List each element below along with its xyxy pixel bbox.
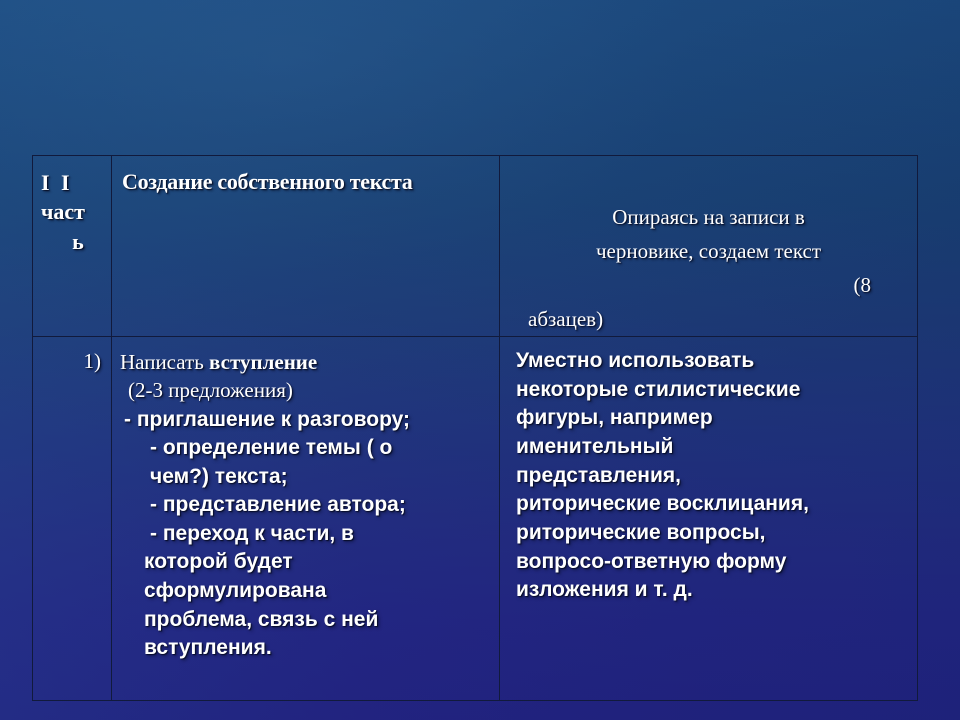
task-serif-line1-plain: Написать <box>120 350 209 374</box>
header-note-line1: Опираясь на записи в <box>514 200 903 234</box>
header-note: Опираясь на записи в черновике, создаем … <box>500 156 917 336</box>
comment-line-1: Уместно использовать <box>516 347 907 376</box>
content-table: I I част ь Создание собственного текста … <box>32 155 918 701</box>
task-sans-line-5: - переход к части, в <box>120 520 493 549</box>
part-label-line3: ь <box>39 227 103 256</box>
comment-line-7: риторические вопросы, <box>516 519 907 548</box>
cell-step-comment: Уместно использовать некоторые стилистич… <box>500 337 918 701</box>
comment-line-9: изложения и т. д. <box>516 576 907 605</box>
task-sans-line-8: проблема, связь с ней <box>120 606 493 635</box>
step-comment: Уместно использовать некоторые стилистич… <box>500 337 917 605</box>
task-sans-line-9: вступления. <box>120 634 493 663</box>
table-row-header: I I част ь Создание собственного текста … <box>33 156 918 337</box>
comment-line-2: некоторые стилистические <box>516 376 907 405</box>
task-serif-line1-bold: вступление <box>209 350 317 374</box>
task-sans-line-6: которой будет <box>120 548 493 577</box>
header-note-line4: абзацев) <box>514 302 903 336</box>
cell-step-task: Написать вступление (2-3 предложения) - … <box>112 337 500 701</box>
comment-line-8: вопросо-ответную форму <box>516 548 907 577</box>
cell-section-title: Создание собственного текста <box>112 156 500 337</box>
step-task: Написать вступление (2-3 предложения) - … <box>112 337 499 663</box>
comment-line-4: именительный <box>516 433 907 462</box>
cell-part-label: I I част ь <box>33 156 112 337</box>
comment-line-5: представления, <box>516 462 907 491</box>
table-row-step-1: 1) Написать вступление (2-3 предложения)… <box>33 337 918 701</box>
cell-step-number: 1) <box>33 337 112 701</box>
task-serif-block: Написать вступление (2-3 предложения) <box>120 348 493 405</box>
task-sans-block: - приглашение к разговору; - определение… <box>120 406 493 663</box>
step-number: 1) <box>33 337 111 374</box>
part-label: I I част ь <box>33 156 111 256</box>
task-sans-line-7: сформулирована <box>120 577 493 606</box>
task-sans-line-1: - приглашение к разговору; <box>120 406 493 435</box>
header-note-line3: (8 <box>514 268 903 302</box>
comment-line-6: риторические восклицания, <box>516 490 907 519</box>
task-serif-line2: (2-3 предложения) <box>120 376 493 404</box>
section-title: Создание собственного текста <box>112 156 499 195</box>
task-serif-line1: Написать вступление <box>120 350 317 374</box>
slide-canvas: I I част ь Создание собственного текста … <box>0 0 960 720</box>
header-note-line2: черновике, создаем текст <box>514 234 903 268</box>
cell-header-note: Опираясь на записи в черновике, создаем … <box>500 156 918 337</box>
part-label-line1: I I <box>39 168 103 197</box>
content-table-wrapper: I I част ь Создание собственного текста … <box>32 155 914 692</box>
part-label-line2: част <box>39 197 103 226</box>
comment-line-3: фигуры, например <box>516 404 907 433</box>
task-sans-line-4: - представление автора; <box>120 491 493 520</box>
task-sans-line-2: - определение темы ( о <box>120 434 493 463</box>
task-sans-line-3: чем?) текста; <box>120 463 493 492</box>
